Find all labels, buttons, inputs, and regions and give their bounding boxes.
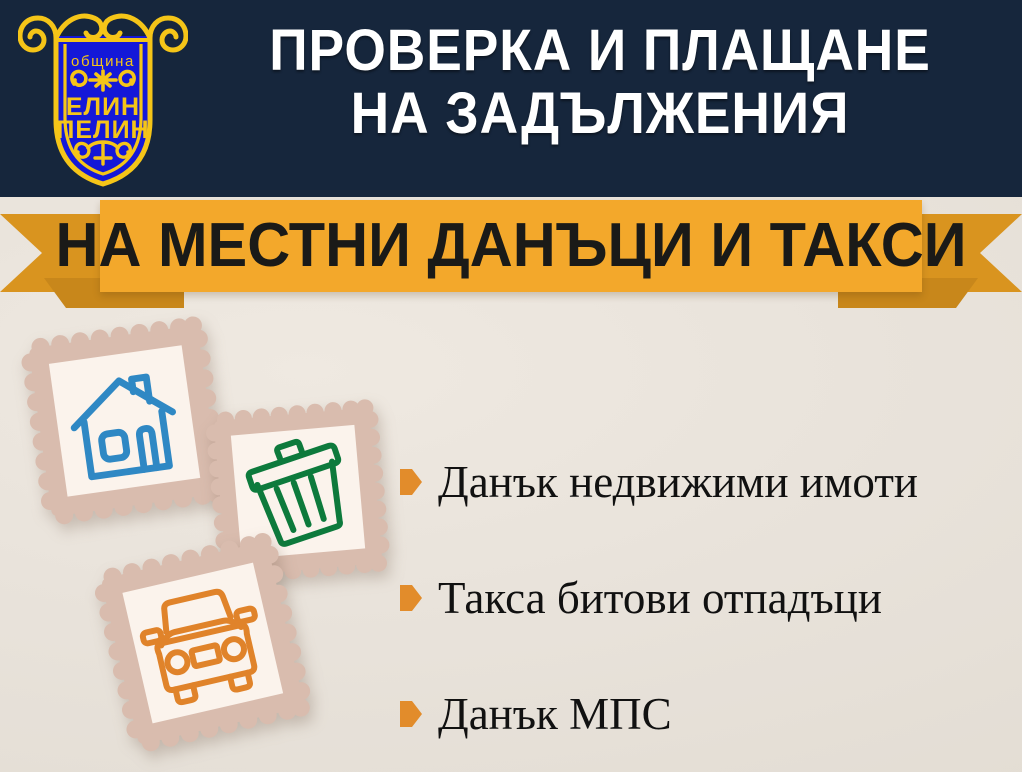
page-title: ПРОВЕРКА И ПЛАЩАНЕ НА ЗАДЪЛЖЕНИЯ <box>223 20 977 145</box>
svg-text:ПЕЛИН: ПЕЛИН <box>56 116 149 144</box>
poster-canvas: община ЕЛИН ПЕЛИН ПРОВЕРКА И ПЛ <box>0 0 1022 772</box>
subtitle-ribbon: НА МЕСТНИ ДАНЪЦИ И ТАКСИ <box>0 196 1022 306</box>
tax-type-list: Данък недвижими имоти Такса битови отпад… <box>400 424 1022 772</box>
arrow-pentagon-icon <box>400 469 422 495</box>
list-item[interactable]: Данък недвижими имоти <box>400 424 1022 540</box>
municipality-emblem: община ЕЛИН ПЕЛИН <box>18 8 188 190</box>
page-title-line-2: НА ЗАДЪЛЖЕНИЯ <box>223 83 977 146</box>
page-title-line-1: ПРОВЕРКА И ПЛАЩАНЕ <box>269 18 930 83</box>
list-item-label: Такса битови отпадъци <box>438 576 882 621</box>
ribbon-label: НА МЕСТНИ ДАНЪЦИ И ТАКСИ <box>116 200 905 292</box>
header-bar: община ЕЛИН ПЕЛИН ПРОВЕРКА И ПЛ <box>0 0 1022 197</box>
list-item-label: Данък МПС <box>438 692 672 737</box>
list-item[interactable]: Такса битови отпадъци <box>400 540 1022 656</box>
arrow-pentagon-icon <box>400 585 422 611</box>
svg-text:община: община <box>71 53 135 70</box>
arrow-pentagon-icon <box>400 701 422 727</box>
list-item[interactable]: Данък МПС <box>400 656 1022 772</box>
stamp-card-vehicle-tax <box>88 528 318 760</box>
list-item-label: Данък недвижими имоти <box>438 460 918 505</box>
